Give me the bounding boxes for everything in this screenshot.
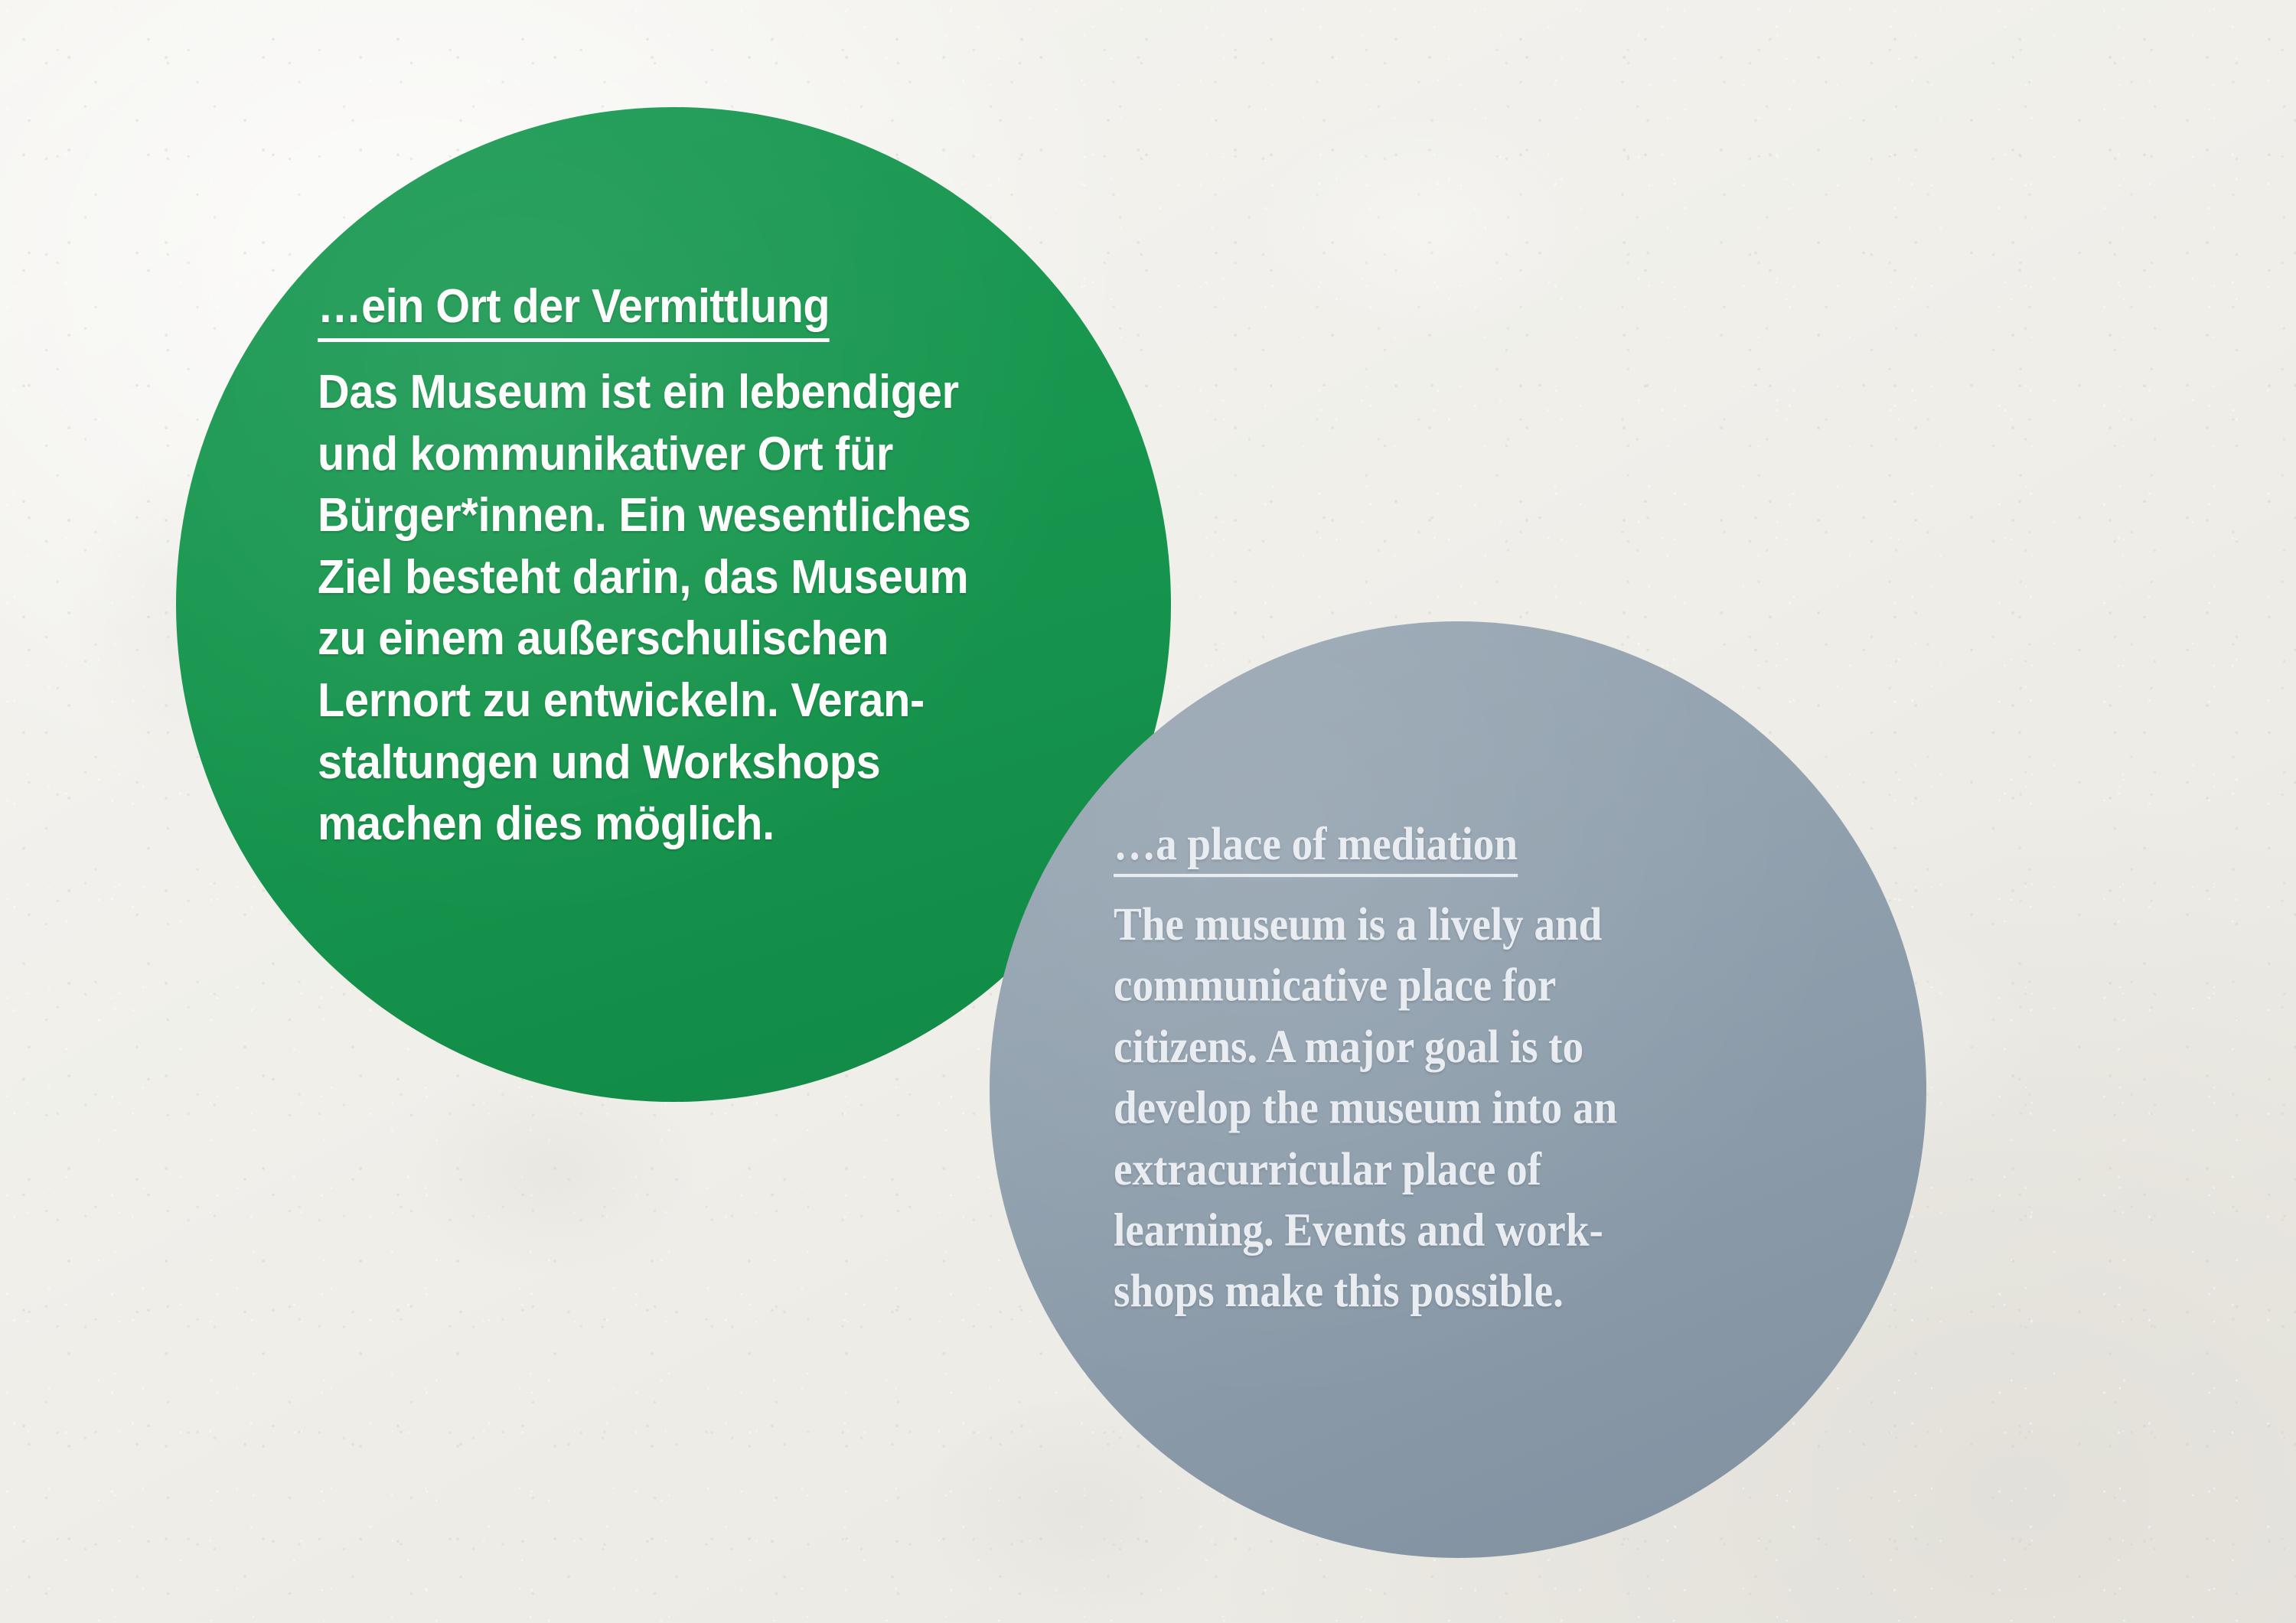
text-line: extracurricular place of [1114,1138,1848,1199]
text-line: zu einem außerschulischen [318,608,1115,670]
text-line: staltungen und Workshops [318,732,1115,794]
text-line: machen dies möglich. [318,794,1115,855]
text-line: Das Museum ist ein lebendiger [318,362,1115,424]
text-line: citizens. A major goal is to [1114,1015,1848,1077]
text-line: shops make this possible. [1114,1260,1848,1322]
german-body-text: Das Museum ist ein lebendigerund kommuni… [318,362,1115,855]
english-heading: …a place of mediation [1114,820,1518,877]
english-body-text: The museum is a lively andcommunicative … [1114,893,1848,1321]
text-line: Ziel besteht darin, das Museum [318,547,1115,609]
english-text-block: …a place of mediation The museum is a li… [1114,820,1848,1322]
text-line: learning. Events and work- [1114,1199,1848,1260]
text-line: und kommunikativer Ort für [318,424,1115,486]
german-text-block: …ein Ort der Vermittlung Das Museum ist … [318,283,1115,855]
text-line: develop the museum into an [1114,1077,1848,1138]
text-line: Lernort zu entwickeln. Veran- [318,670,1115,732]
text-line: Bürger*innen. Ein wesentliches [318,485,1115,547]
german-heading: …ein Ort der Vermittlung [318,283,830,342]
text-line: The museum is a lively and [1114,893,1848,954]
text-line: communicative place for [1114,954,1848,1015]
